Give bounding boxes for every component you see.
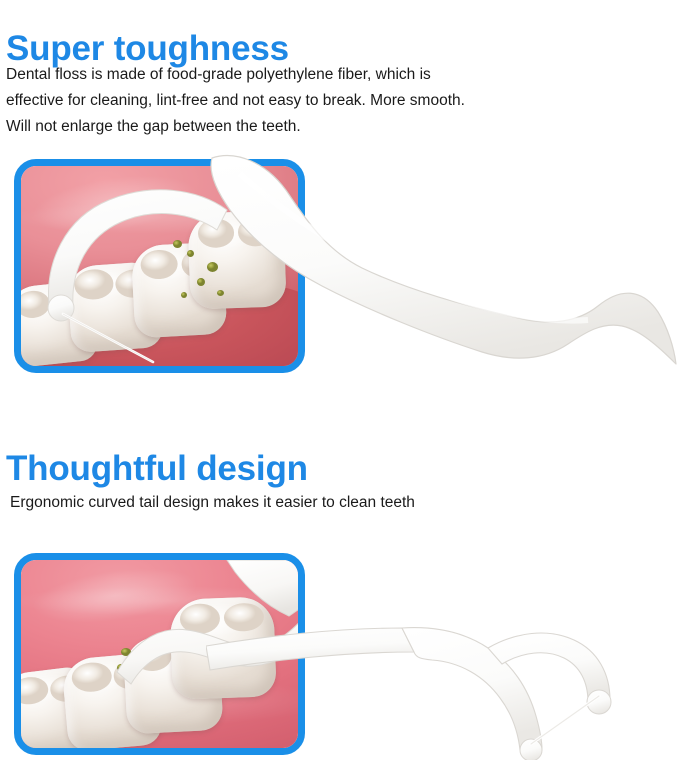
section-2-heading: Thoughtful design: [6, 449, 308, 489]
illustration-frame-flossing-between-molars: [14, 159, 305, 373]
body-line: Ergonomic curved tail design makes it ea…: [10, 490, 415, 516]
body-line: Will not enlarge the gap between the tee…: [6, 114, 465, 140]
section-1-body: Dental floss is made of food-grade polye…: [6, 62, 465, 140]
body-line: effective for cleaning, lint-free and no…: [6, 88, 465, 114]
body-line: Dental floss is made of food-grade polye…: [6, 62, 465, 88]
dental-scene-2: [21, 560, 298, 748]
floss-pick-head: [21, 166, 298, 366]
illustration-frame-curved-tail-cleaning: [14, 553, 305, 755]
pick-curved-tail-tip: [21, 560, 298, 748]
dental-scene-1: [21, 166, 298, 366]
section-2-body: Ergonomic curved tail design makes it ea…: [10, 490, 415, 516]
